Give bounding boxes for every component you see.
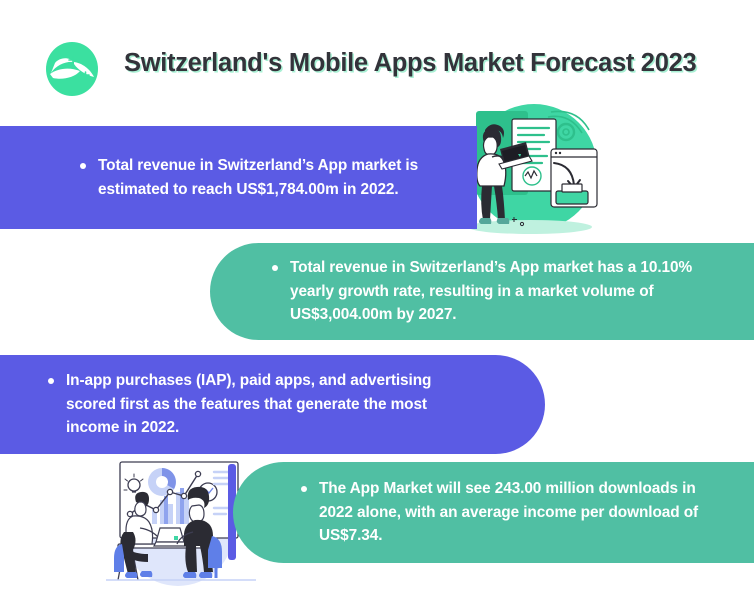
band-text: The App Market will see 243.00 million d… (319, 477, 719, 548)
band-text: Total revenue in Switzerland’s App marke… (290, 256, 710, 327)
band-income-features: In-app purchases (IAP), paid apps, and a… (0, 355, 545, 454)
band-growth-rate: Total revenue in Switzerland’s App marke… (210, 243, 754, 340)
dot-bullet-icon (301, 486, 307, 492)
dot-bullet-icon (48, 378, 54, 384)
dot-bullet-icon (272, 265, 278, 271)
page-title: Switzerland's Mobile Apps Market Forecas… (124, 49, 696, 78)
infographic-canvas: Switzerland's Mobile Apps Market Forecas… (0, 0, 754, 589)
band-text: Total revenue in Switzerland’s App marke… (98, 154, 428, 201)
band-downloads: The App Market will see 243.00 million d… (233, 462, 754, 563)
header: Switzerland's Mobile Apps Market Forecas… (0, 0, 754, 110)
band-text: In-app purchases (IAP), paid apps, and a… (66, 369, 466, 440)
leaf-circle-logo-icon (44, 40, 100, 98)
band-revenue-2022: Total revenue in Switzerland’s App marke… (0, 126, 477, 229)
dot-bullet-icon (80, 163, 86, 169)
